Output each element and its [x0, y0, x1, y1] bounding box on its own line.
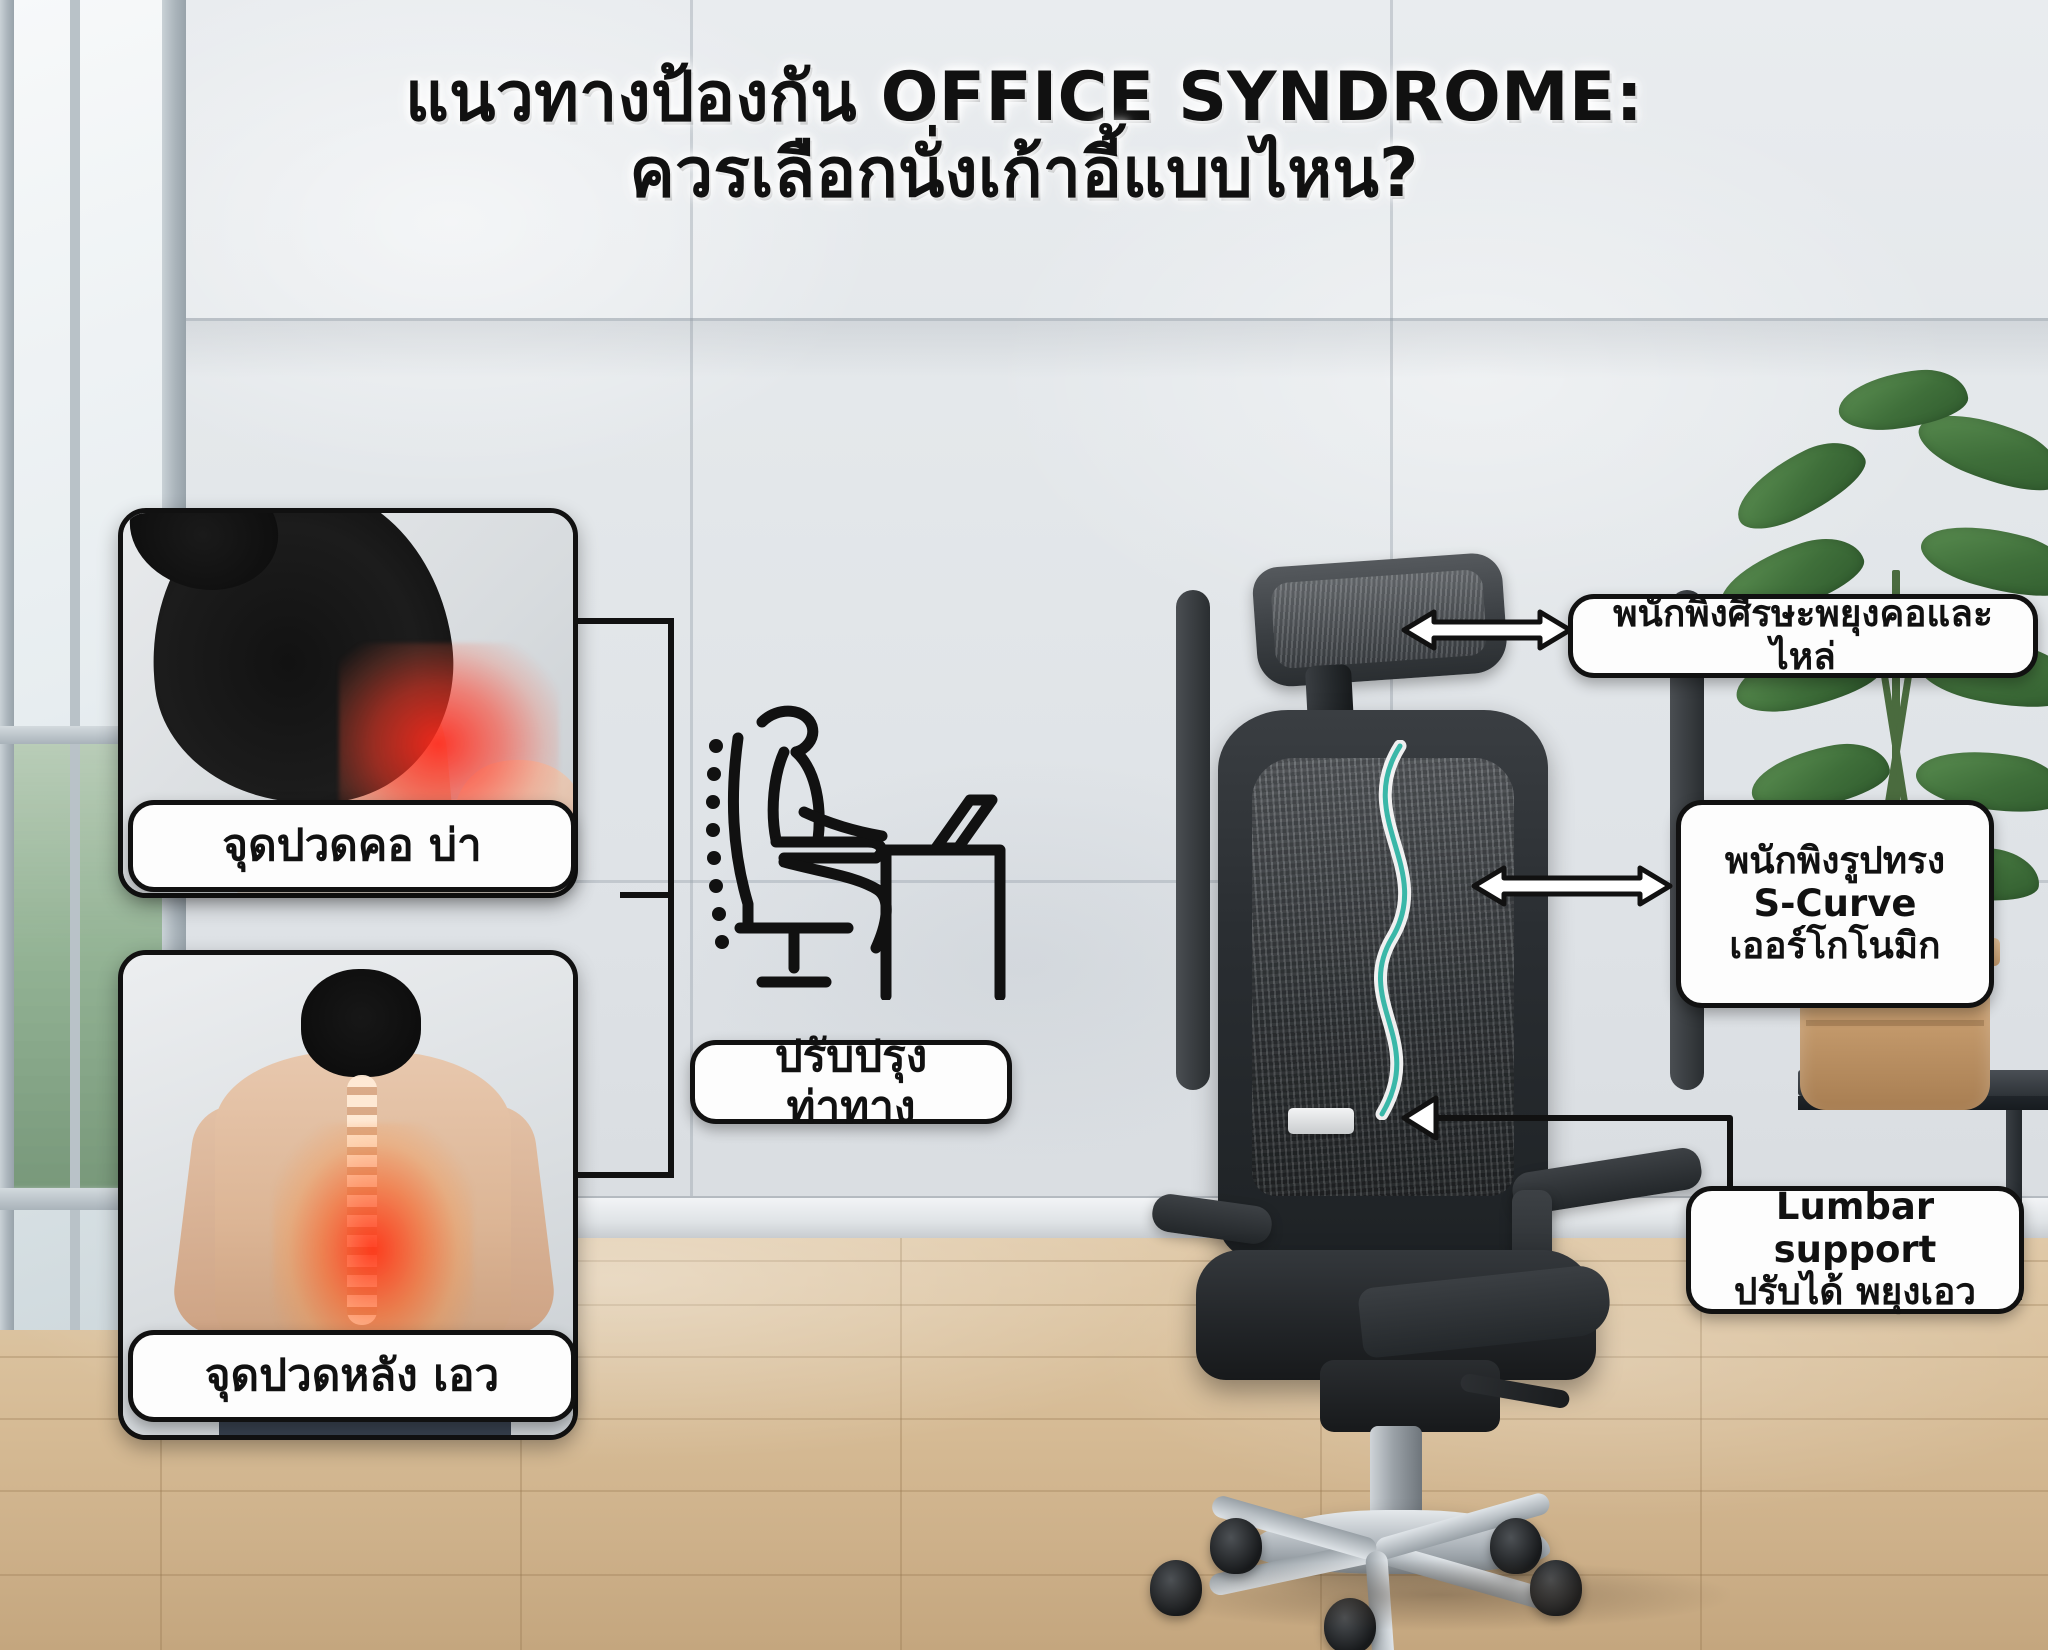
backrest-frame-left [1176, 590, 1210, 1090]
chair-brand-tab [1288, 1108, 1354, 1134]
arrow-headrest [1398, 600, 1576, 660]
callout-s-curve-backrest: พนักพิงรูปทรง S-Curve เออร์โกโนมิก [1676, 800, 1994, 1008]
connector-line-bottom [578, 1172, 674, 1178]
arrow-s-curve-backrest [1468, 856, 1676, 916]
pain-highlight-lower-back [273, 1123, 473, 1353]
callout-headrest: พนักพิงศีรษะพยุงคอและไหล่ [1568, 594, 2038, 678]
chair-gas-cylinder [1370, 1426, 1422, 1522]
chair-floor-shadow [1150, 1560, 1730, 1630]
callout-s-curve-line-1: พนักพิงรูปทรง [1725, 840, 1945, 883]
plant-pot-band [1806, 1020, 1984, 1026]
caption-neck-shoulder-pain: จุดปวดคอ บ่า [128, 800, 576, 892]
page-title-line-2: ควรเลือกนั่งเก้าอี้แบบไหน? [0, 136, 2048, 212]
callout-s-curve-line-3: เออร์โกโนมิก [1729, 925, 1940, 968]
s-curve-accent-line [1338, 740, 1448, 1120]
infographic-scene: แนวทางป้องกัน OFFICE SYNDROME: ควรเลือกน… [0, 0, 2048, 1650]
sitting-posture-at-desk-icon [700, 700, 1020, 1000]
callout-lumbar-support: Lumbar support ปรับได้ พยุงเอว [1686, 1186, 2024, 1314]
page-title-line-1: แนวทางป้องกัน OFFICE SYNDROME: [0, 60, 2048, 136]
connector-line-vertical [668, 618, 674, 1178]
callout-lumbar-line-1: Lumbar support [1709, 1186, 2001, 1272]
connector-line-middle [620, 892, 674, 898]
figure-head [301, 969, 421, 1077]
callout-lumbar-line-2: ปรับได้ พยุงเอว [1734, 1271, 1976, 1314]
caption-lower-back-pain: จุดปวดหลัง เอว [128, 1330, 576, 1422]
plant-leaf [1724, 428, 1875, 542]
chair-tilt-mechanism [1320, 1360, 1500, 1432]
callout-s-curve-line-2: S-Curve [1754, 883, 1917, 926]
callout-improve-posture: ปรับปรุงท่าทาง [690, 1040, 1012, 1124]
page-title: แนวทางป้องกัน OFFICE SYNDROME: ควรเลือกน… [0, 60, 2048, 212]
potted-plant [1720, 360, 2048, 1150]
connector-line-top [578, 618, 674, 624]
